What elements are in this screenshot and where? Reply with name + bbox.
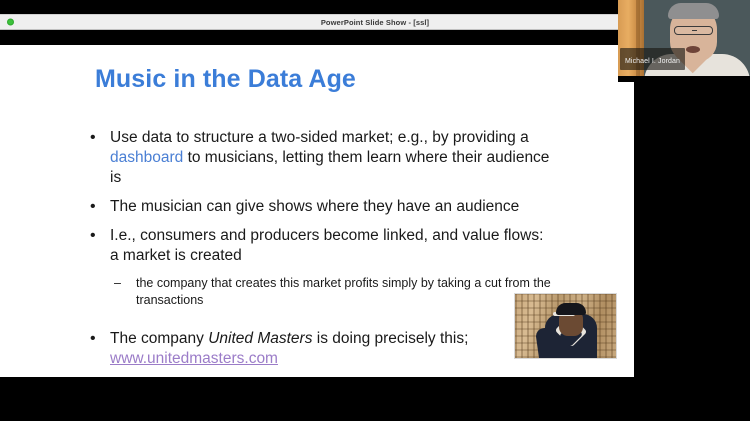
webcam-name-badge: Michael I. Jordan bbox=[620, 48, 685, 70]
slide-bullet-list: • Use data to structure a two-sided mark… bbox=[84, 128, 554, 377]
unitedmasters-founder-photo bbox=[514, 293, 617, 359]
slide-title: Music in the Data Age bbox=[95, 65, 356, 94]
sub-bullet-marker: – bbox=[114, 275, 136, 292]
unitedmasters-url-link[interactable]: www.unitedmasters.com bbox=[110, 350, 278, 367]
bullet-item: • I.e., consumers and producers become l… bbox=[84, 226, 554, 266]
photo-person-cap bbox=[556, 303, 586, 315]
list-spacer bbox=[84, 309, 554, 329]
sub-bullet-item: – the company that creates this market p… bbox=[114, 275, 554, 309]
window-title: PowerPoint Slide Show - [ssl] bbox=[321, 18, 429, 27]
webcam-person-glasses bbox=[674, 26, 713, 35]
bullet-marker: • bbox=[84, 226, 110, 246]
bullet-item-unitedmasters: • The company United Masters is doing pr… bbox=[84, 329, 554, 369]
powerpoint-slide[interactable]: Music in the Data Age • Use data to stru… bbox=[0, 45, 634, 377]
bullet-text: Use data to structure a two-sided market… bbox=[110, 128, 554, 188]
bullet-segment-text: The company bbox=[110, 330, 208, 347]
webcam-person-mouth bbox=[686, 46, 700, 53]
bullet-marker: • bbox=[84, 329, 110, 349]
bullet-segment-text: is doing precisely this; bbox=[312, 330, 468, 347]
bullet-marker: • bbox=[84, 197, 110, 217]
bullet-segment-text: Use data to structure a two-sided market… bbox=[110, 129, 529, 146]
bullet-item: • The musician can give shows where they… bbox=[84, 197, 554, 217]
webcam-bottom-edge bbox=[618, 76, 750, 82]
united-masters-emphasis: United Masters bbox=[208, 330, 312, 347]
window-status-dot-icon[interactable] bbox=[7, 19, 14, 26]
webcam-video-tile[interactable]: Michael I. Jordan bbox=[618, 0, 750, 82]
webcam-person-hair bbox=[668, 3, 719, 19]
bullet-marker: • bbox=[84, 128, 110, 148]
bullet-text: The company United Masters is doing prec… bbox=[110, 329, 554, 369]
bullet-text: I.e., consumers and producers become lin… bbox=[110, 226, 554, 266]
screen-root: PowerPoint Slide Show - [ssl] Music in t… bbox=[0, 0, 750, 421]
bullet-text: The musician can give shows where they h… bbox=[110, 197, 554, 217]
dashboard-link[interactable]: dashboard bbox=[110, 149, 183, 166]
bullet-item: • Use data to structure a two-sided mark… bbox=[84, 128, 554, 188]
sub-bullet-text: the company that creates this market pro… bbox=[136, 275, 554, 309]
webcam-participant-name: Michael I. Jordan bbox=[625, 58, 680, 65]
